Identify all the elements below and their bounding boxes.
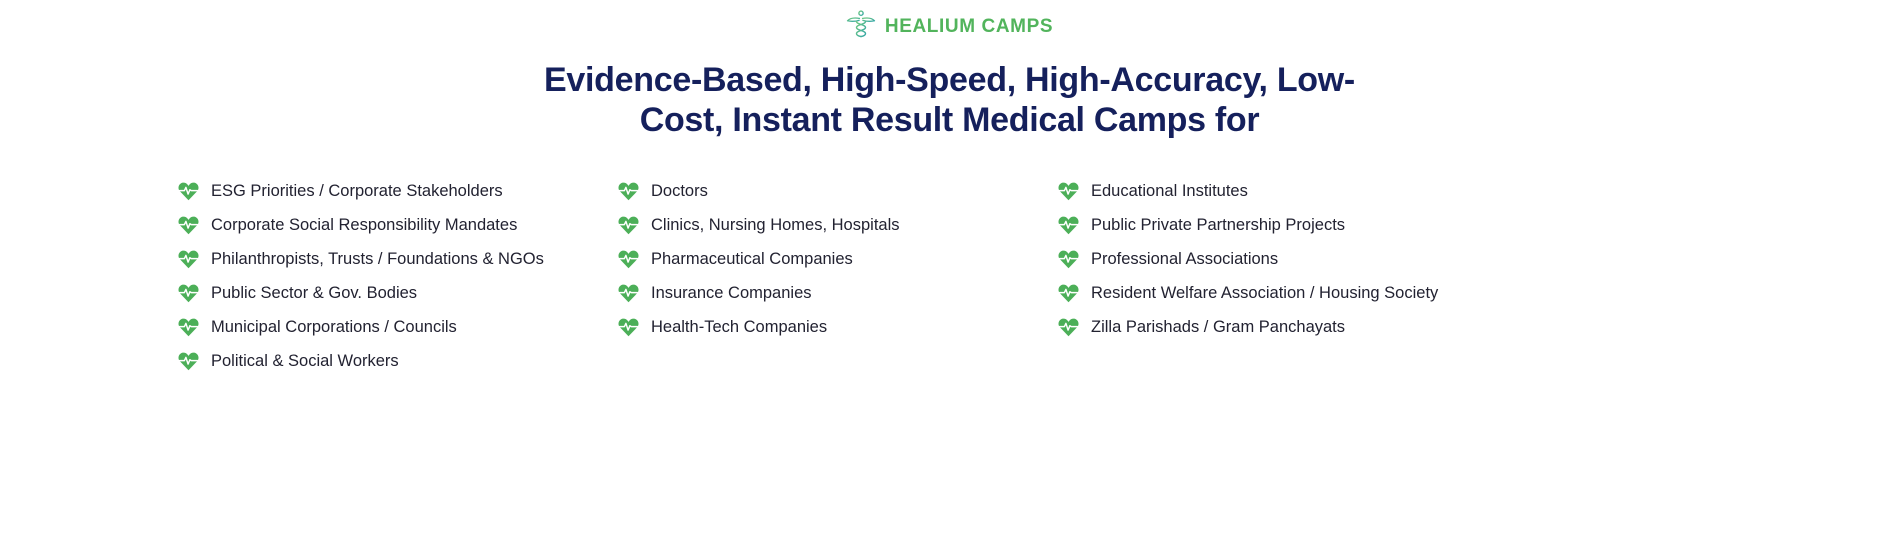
list-item-label: Resident Welfare Association / Housing S… (1091, 283, 1438, 304)
list-item: Zilla Parishads / Gram Panchayats (1058, 316, 1538, 338)
heart-pulse-icon (1058, 250, 1079, 269)
list-item-label: ESG Priorities / Corporate Stakeholders (211, 181, 503, 202)
list-item: Philanthropists, Trusts / Foundations & … (178, 248, 618, 270)
audience-column-2: Doctors Clinics, Nursing Homes, Hospital… (618, 180, 1058, 338)
heart-pulse-icon (618, 250, 639, 269)
list-item-label: Corporate Social Responsibility Mandates (211, 215, 517, 236)
list-item-label: Public Private Partnership Projects (1091, 215, 1345, 236)
list-item: Public Private Partnership Projects (1058, 214, 1538, 236)
heart-pulse-icon (178, 284, 199, 303)
heart-pulse-icon (618, 284, 639, 303)
heart-pulse-icon (1058, 182, 1079, 201)
list-item-label: Professional Associations (1091, 249, 1278, 270)
list-item-label: Educational Institutes (1091, 181, 1248, 202)
brand-name: HEALIUM CAMPS (885, 17, 1053, 36)
list-item-label: Doctors (651, 181, 708, 202)
brand-header: HEALIUM CAMPS (0, 0, 1899, 44)
heart-pulse-icon (178, 216, 199, 235)
list-item-label: Zilla Parishads / Gram Panchayats (1091, 317, 1345, 338)
page-title: Evidence-Based, High-Speed, High-Accurac… (0, 60, 1899, 140)
list-item-label: Pharmaceutical Companies (651, 249, 853, 270)
list-item-label: Insurance Companies (651, 283, 812, 304)
list-item: Health-Tech Companies (618, 316, 1058, 338)
audience-column-1: ESG Priorities / Corporate Stakeholders … (178, 180, 618, 372)
heart-pulse-icon (178, 182, 199, 201)
landing-page: HEALIUM CAMPS Evidence-Based, High-Speed… (0, 0, 1899, 544)
list-item-label: Public Sector & Gov. Bodies (211, 283, 417, 304)
list-item: Insurance Companies (618, 282, 1058, 304)
page-title-line-1: Evidence-Based, High-Speed, High-Accurac… (360, 60, 1539, 100)
audience-column-3: Educational Institutes Public Private Pa… (1058, 180, 1538, 338)
list-item: ESG Priorities / Corporate Stakeholders (178, 180, 618, 202)
list-item: Public Sector & Gov. Bodies (178, 282, 618, 304)
list-item: Clinics, Nursing Homes, Hospitals (618, 214, 1058, 236)
heart-pulse-icon (618, 318, 639, 337)
heart-pulse-icon (178, 318, 199, 337)
heart-pulse-icon (1058, 284, 1079, 303)
list-item: Educational Institutes (1058, 180, 1538, 202)
heart-pulse-icon (178, 250, 199, 269)
heart-pulse-icon (1058, 216, 1079, 235)
heart-pulse-icon (1058, 318, 1079, 337)
list-item-label: Municipal Corporations / Councils (211, 317, 457, 338)
list-item-label: Health-Tech Companies (651, 317, 827, 338)
list-item-label: Philanthropists, Trusts / Foundations & … (211, 249, 544, 270)
caduceus-icon (846, 10, 876, 42)
list-item: Political & Social Workers (178, 350, 618, 372)
list-item: Professional Associations (1058, 248, 1538, 270)
heart-pulse-icon (178, 352, 199, 371)
list-item-label: Clinics, Nursing Homes, Hospitals (651, 215, 900, 236)
list-item-label: Political & Social Workers (211, 351, 399, 372)
heart-pulse-icon (618, 182, 639, 201)
list-item: Pharmaceutical Companies (618, 248, 1058, 270)
list-item: Doctors (618, 180, 1058, 202)
page-title-line-2: Cost, Instant Result Medical Camps for (360, 100, 1539, 140)
list-item: Corporate Social Responsibility Mandates (178, 214, 618, 236)
list-item: Municipal Corporations / Councils (178, 316, 618, 338)
list-item: Resident Welfare Association / Housing S… (1058, 282, 1538, 304)
heart-pulse-icon (618, 216, 639, 235)
audience-columns: ESG Priorities / Corporate Stakeholders … (0, 180, 1899, 372)
